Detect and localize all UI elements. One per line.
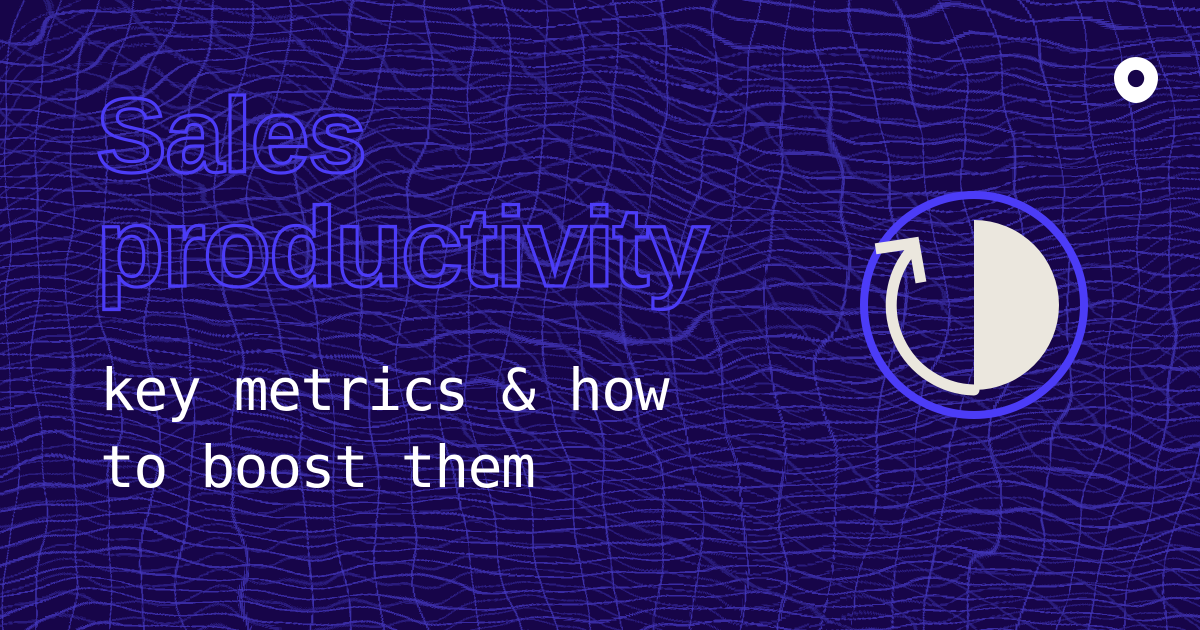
page-subtitle: key metrics & how to boost them — [100, 352, 880, 506]
icon-arc — [891, 253, 974, 390]
icon-half-fill — [974, 220, 1059, 390]
headline-line-1: Sales — [96, 84, 916, 189]
page-title: Sales productivity — [96, 84, 916, 304]
subtitle-line-1: key metrics & how — [100, 352, 880, 429]
half-filled-circle-refresh-icon — [856, 187, 1092, 423]
droplet-ring-logo-icon[interactable] — [1113, 56, 1159, 104]
headline-line-2: productivity — [96, 193, 916, 304]
subtitle-line-2: to boost them — [100, 429, 880, 506]
social-share-card: Sales productivity key metrics & how to … — [0, 0, 1200, 630]
